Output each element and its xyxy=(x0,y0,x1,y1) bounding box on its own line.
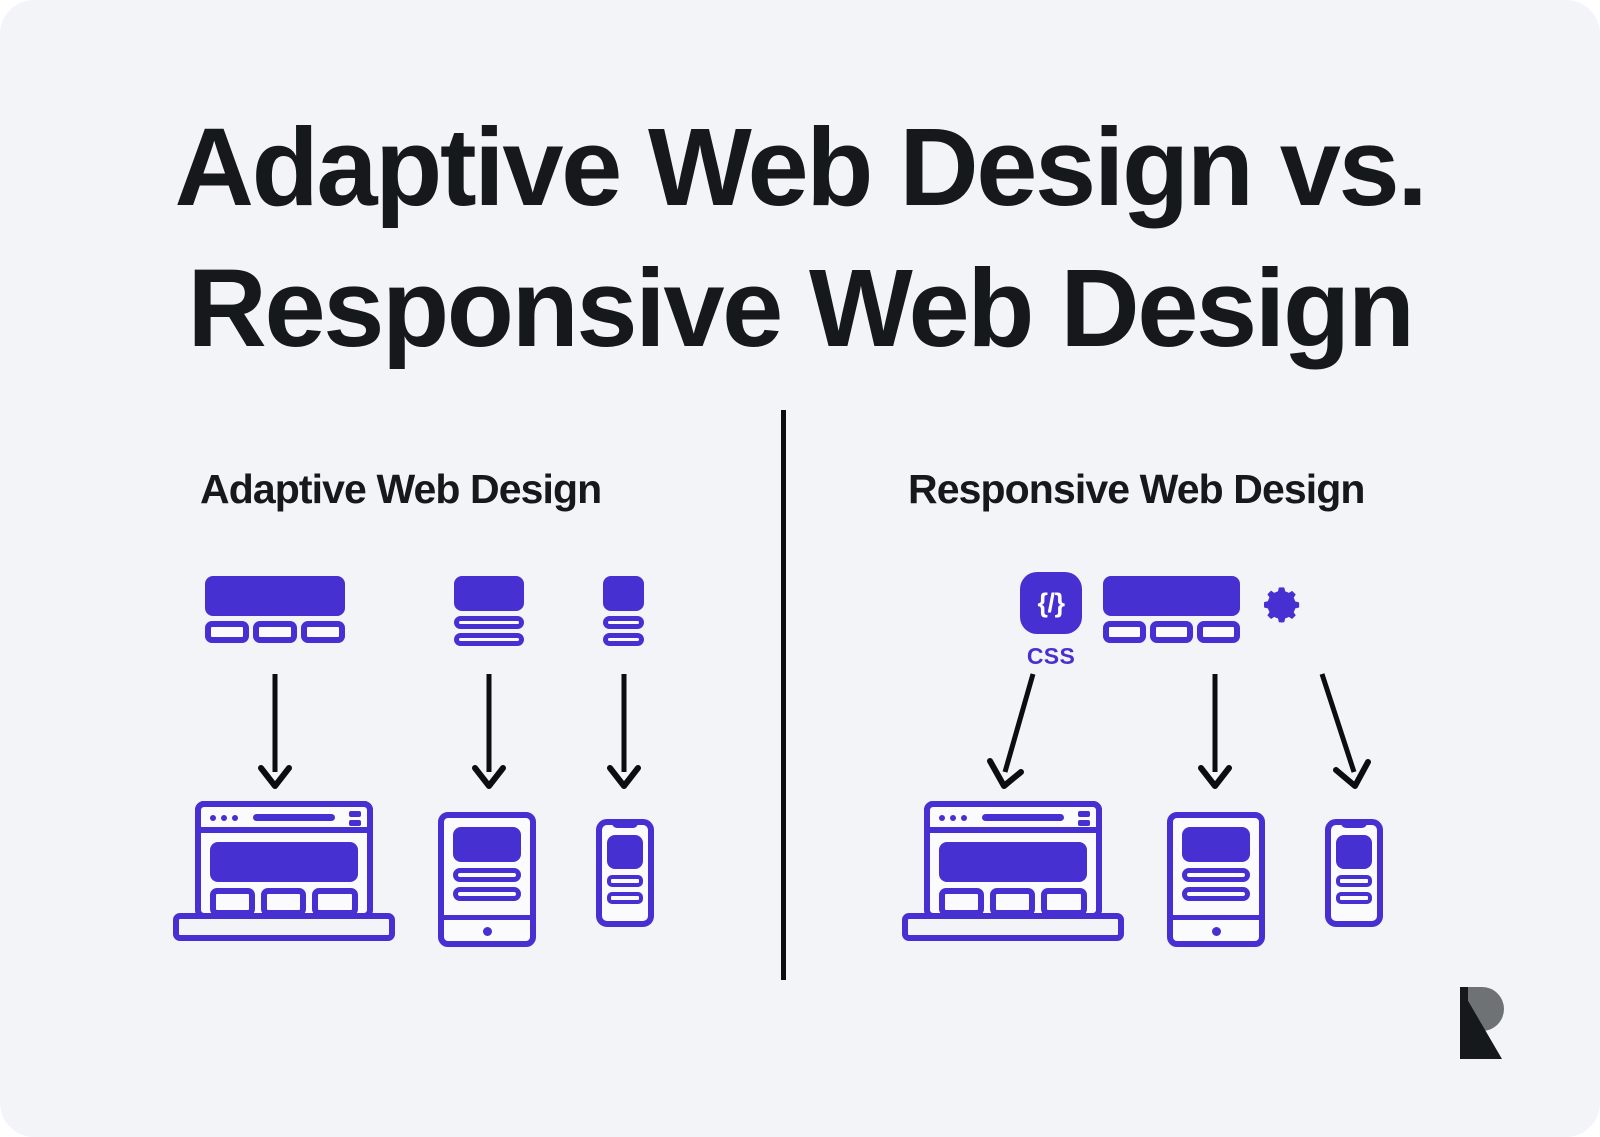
menu-square-2 xyxy=(349,820,361,826)
tablet-bar-2 xyxy=(453,887,521,901)
window-dot-1 xyxy=(939,815,945,821)
menu-square-1 xyxy=(349,811,361,817)
tablet-divider xyxy=(438,915,536,920)
brand-logo xyxy=(1452,987,1508,1059)
arrow-to-tablet xyxy=(459,672,519,792)
bar-1 xyxy=(603,616,644,629)
tablet-home-button xyxy=(483,927,492,936)
phone-notch xyxy=(1341,819,1367,828)
arrow-to-laptop xyxy=(245,672,305,792)
card-1 xyxy=(1103,621,1146,643)
laptop-base xyxy=(173,913,395,941)
page-hero-block xyxy=(210,842,358,882)
tablet-hero-block xyxy=(453,827,521,862)
bar-2 xyxy=(603,633,644,646)
column-heading-adaptive: Adaptive Web Design xyxy=(200,466,601,513)
single-layout-wireframe xyxy=(1103,576,1240,642)
tablet-divider xyxy=(1167,915,1265,920)
bar-2 xyxy=(454,633,524,646)
phone-bar-1 xyxy=(1336,875,1372,887)
page-card-1 xyxy=(210,888,255,916)
laptop-base xyxy=(902,913,1124,941)
bar-1 xyxy=(454,616,524,629)
card-3 xyxy=(301,621,345,643)
phone-device xyxy=(1325,819,1383,927)
window-dot-3 xyxy=(961,815,967,821)
card-3 xyxy=(1197,621,1240,643)
window-dot-2 xyxy=(221,815,227,821)
arrow-to-laptop xyxy=(985,672,1055,792)
page-card-1 xyxy=(939,888,984,916)
phone-notch xyxy=(612,819,638,828)
page-card-3 xyxy=(312,888,358,916)
hero-block xyxy=(603,576,644,611)
phone-bar-2 xyxy=(607,892,643,904)
window-dot-3 xyxy=(232,815,238,821)
tablet-hero-block xyxy=(1182,827,1250,862)
infographic-canvas: Adaptive Web Design vs. Responsive Web D… xyxy=(0,0,1600,1137)
arrow-to-phone xyxy=(1310,672,1380,792)
page-title: Adaptive Web Design vs. Responsive Web D… xyxy=(128,98,1472,380)
page-card-2 xyxy=(990,888,1035,916)
tablet-bar-2 xyxy=(1182,887,1250,901)
card-2 xyxy=(1150,621,1193,643)
laptop-device xyxy=(902,801,1124,941)
window-dot-2 xyxy=(950,815,956,821)
tablet-layout-wireframe xyxy=(454,576,524,642)
url-bar xyxy=(253,814,335,821)
mobile-layout-wireframe xyxy=(603,576,644,642)
tablet-bar-1 xyxy=(1182,868,1250,882)
tablet-home-button xyxy=(1212,927,1221,936)
tablet-device xyxy=(1167,812,1265,947)
hero-block xyxy=(454,576,524,611)
page-card-2 xyxy=(261,888,306,916)
desktop-layout-wireframe xyxy=(205,576,345,642)
arrow-to-tablet xyxy=(1185,672,1245,792)
hero-block xyxy=(1103,576,1240,616)
phone-bar-1 xyxy=(607,875,643,887)
phone-hero-block xyxy=(607,835,643,869)
menu-square-1 xyxy=(1078,811,1090,817)
page-hero-block xyxy=(939,842,1087,882)
tablet-bar-1 xyxy=(453,868,521,882)
gear-icon xyxy=(1258,582,1304,628)
card-1 xyxy=(205,621,249,643)
column-heading-responsive: Responsive Web Design xyxy=(908,466,1365,513)
card-2 xyxy=(253,621,297,643)
css-code-icon: {/} xyxy=(1020,572,1082,634)
phone-device xyxy=(596,819,654,927)
url-bar xyxy=(982,814,1064,821)
tablet-device xyxy=(438,812,536,947)
column-divider xyxy=(781,410,786,980)
arrow-to-phone xyxy=(594,672,654,792)
css-label: CSS xyxy=(1016,643,1086,670)
phone-hero-block xyxy=(1336,835,1372,869)
phone-bar-2 xyxy=(1336,892,1372,904)
page-card-3 xyxy=(1041,888,1087,916)
hero-block xyxy=(205,576,345,616)
window-dot-1 xyxy=(210,815,216,821)
menu-square-2 xyxy=(1078,820,1090,826)
laptop-device xyxy=(173,801,395,941)
